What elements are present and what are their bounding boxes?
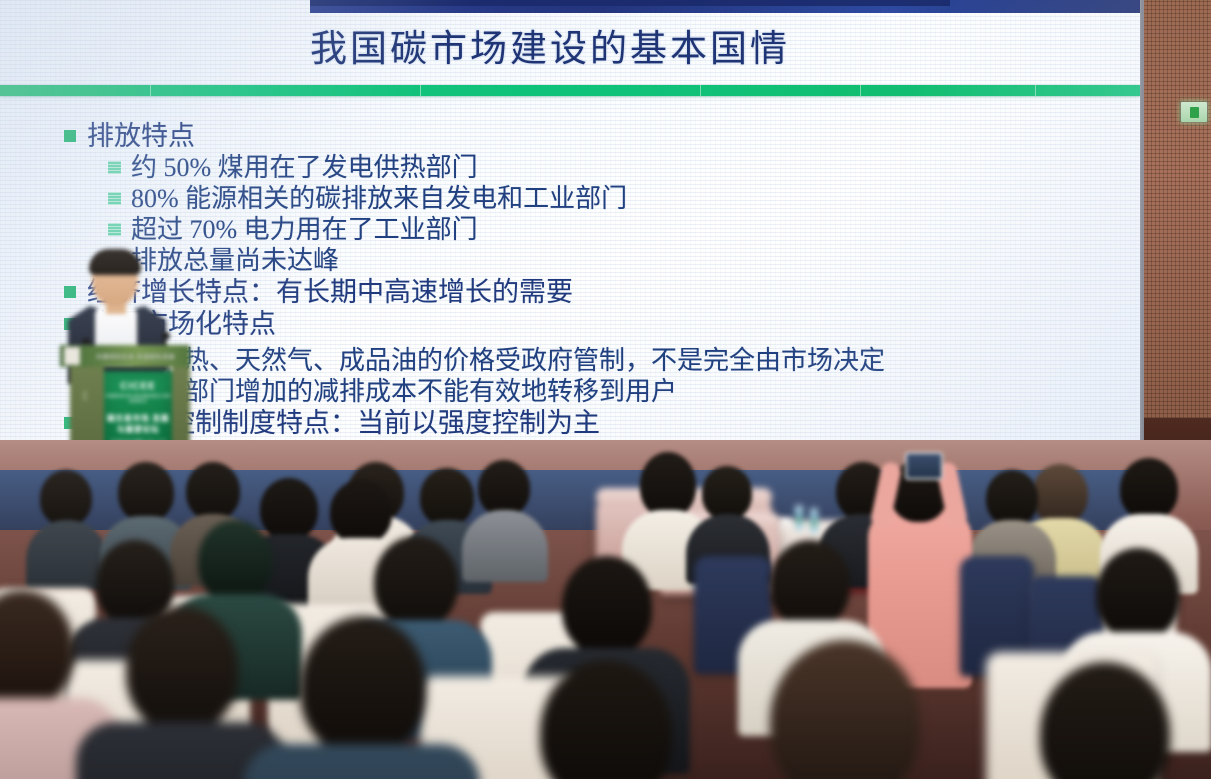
bullet-item: 电力部门增加的减排成本不能有效地转移到用户 (108, 376, 1094, 407)
bullet-item: 能源市场化特点 (64, 308, 1094, 340)
podium-badge (64, 347, 80, 365)
conference-photo: 我国碳市场建设的基本国情 排放特点 约 50% 煤用在了发电供热部门 80% 能… (0, 0, 1211, 779)
speaker-hair (89, 249, 141, 275)
acoustic-wall-panel (1143, 0, 1211, 430)
bullet-item: 约 50% 煤用在了发电供热部门 (108, 152, 1094, 183)
poster-subtitle: 中国国际碳交易与绿色金融发展论坛 暨年度高峰会议 (104, 394, 172, 404)
head (1096, 548, 1180, 640)
head (640, 452, 696, 518)
head (198, 520, 272, 602)
bullet-item: 排放总量尚未达峰 (108, 245, 1094, 276)
slide-accent-rule (0, 85, 1140, 96)
slide-title: 我国碳市场建设的基本国情 (0, 18, 1100, 72)
bullet-item: 电、热、天然气、成品油的价格受政府管制，不是完全由市场决定 (108, 345, 1094, 376)
bullet-marker-level2 (108, 161, 121, 174)
head (420, 468, 474, 526)
bullet-marker-level2 (108, 192, 121, 205)
head (702, 466, 752, 520)
poster-title: 碳交易市场 发展与展望论坛 (104, 413, 172, 435)
head (478, 460, 530, 516)
bullet-text: 电力部门增加的减排成本不能有效地转移到用户 (131, 376, 677, 407)
bullet-text: 超过 70% 电力用在了工业部门 (131, 214, 478, 245)
bullet-text: 排放特点 (87, 120, 195, 152)
torso (244, 744, 480, 779)
bullet-marker-level1 (64, 130, 76, 142)
head (260, 478, 318, 540)
bullet-text: 约 50% 煤用在了发电供热部门 (131, 152, 478, 183)
exit-sign (1180, 101, 1208, 123)
bullet-item: 经济增长特点：有长期中高速增长的需要 (64, 276, 1094, 308)
bullet-item: 80% 能源相关的碳排放来自发电和工业部门 (108, 183, 1094, 214)
bullet-item: 排放特点 (64, 120, 1094, 152)
head (330, 480, 392, 544)
tea-cup (778, 518, 792, 530)
bullet-item: 碳排放控制制度特点：当前以强度控制为主 (64, 407, 1094, 439)
bullet-item: 超过 70% 电力用在了工业部门 (108, 214, 1094, 245)
slide-bullet-list: 排放特点 约 50% 煤用在了发电供热部门 80% 能源相关的碳排放来自发电和工… (64, 120, 1094, 439)
torso (462, 510, 548, 582)
head (40, 470, 92, 526)
head (374, 536, 458, 628)
water-bottle (795, 505, 803, 531)
head (118, 462, 174, 522)
head (1032, 464, 1088, 524)
podium-side-text: 论坛 (78, 391, 88, 401)
head (300, 616, 426, 756)
head (770, 540, 850, 628)
water-bottle (810, 508, 818, 534)
head (186, 462, 240, 520)
bullet-marker-level2 (108, 223, 121, 236)
head (986, 470, 1038, 526)
tablet-device (905, 452, 943, 480)
head (1120, 458, 1178, 520)
microphone-head-right (162, 332, 170, 340)
podium-banner-text: 共建绿色生态 共谋绿色发展 (96, 352, 175, 361)
bullet-text: 80% 能源相关的碳排放来自发电和工业部门 (131, 183, 627, 214)
head (126, 606, 238, 732)
bullet-text: 电、热、天然气、成品油的价格受政府管制，不是完全由市场决定 (131, 345, 885, 376)
slide-top-band-inner (310, 0, 950, 6)
head (562, 556, 652, 656)
poster-logo: CICEE (104, 381, 172, 392)
